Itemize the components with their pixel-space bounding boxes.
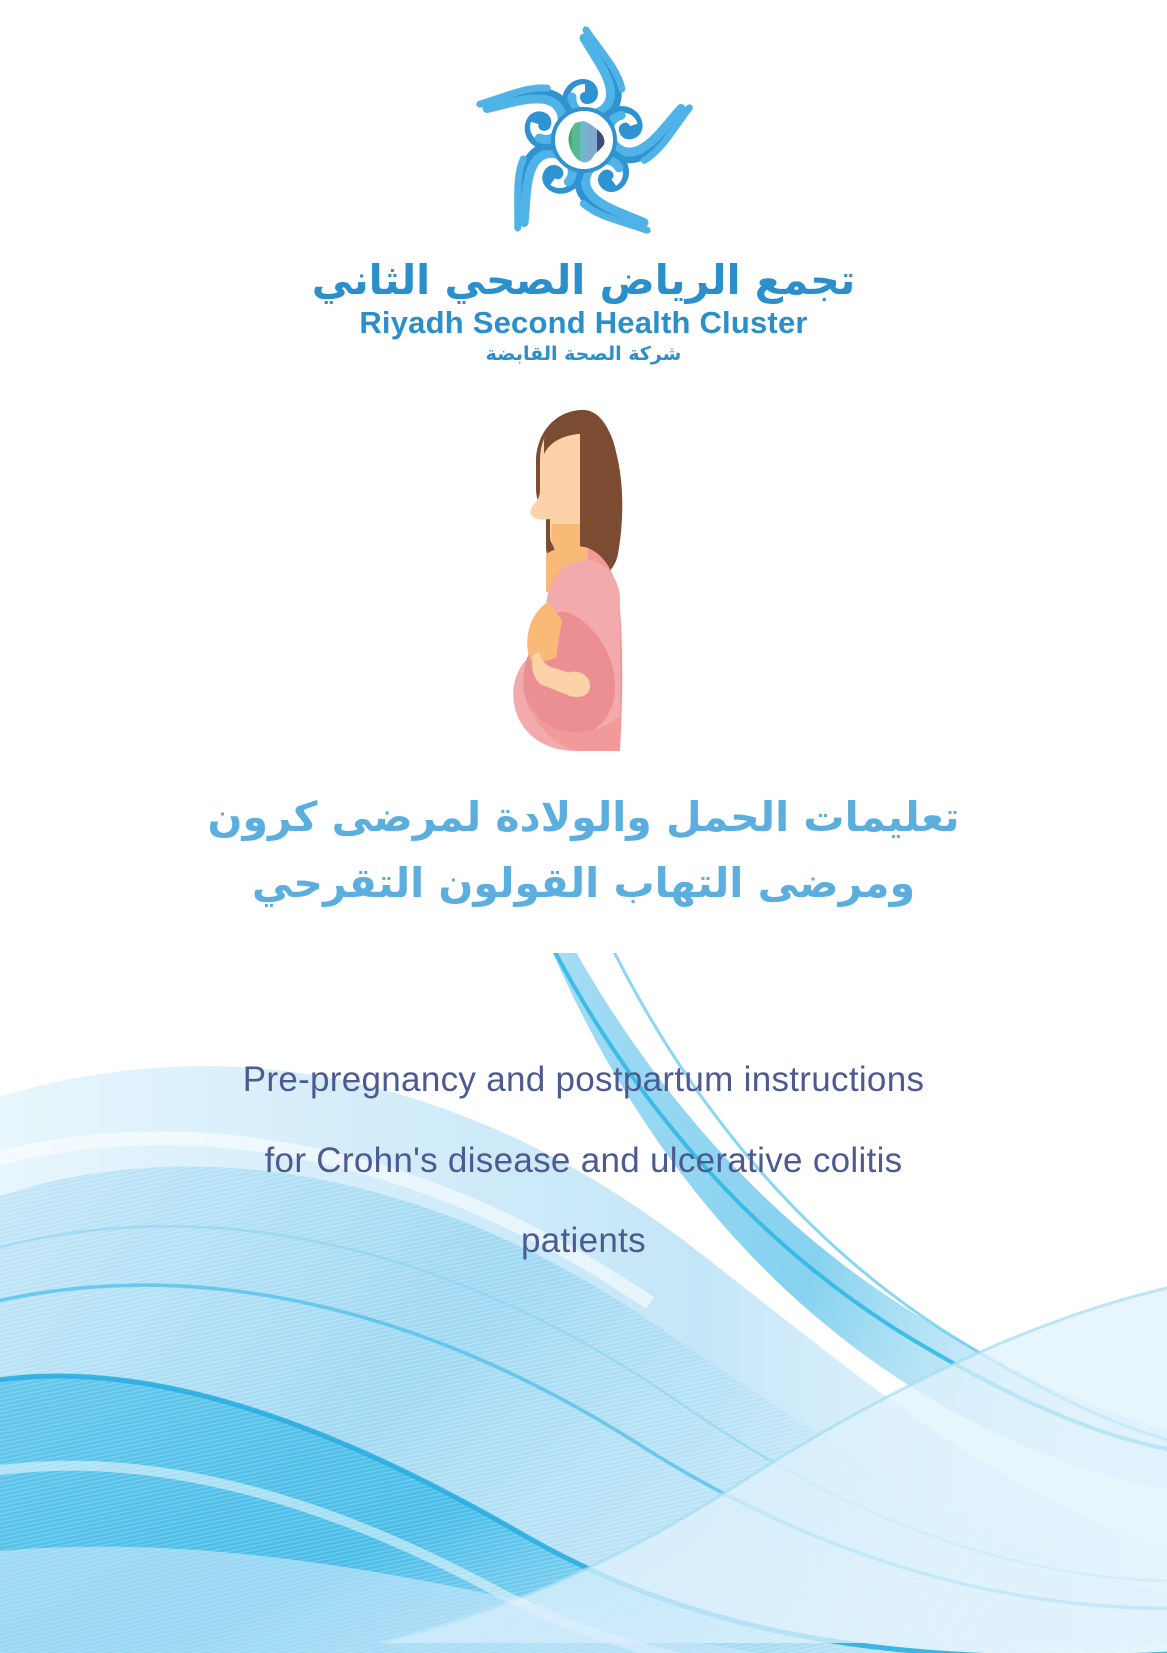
arabic-title-line-2: ومرضى التهاب القولون التقرحي [110,850,1057,916]
logo-english-name: Riyadh Second Health Cluster [0,306,1167,340]
english-title-line-2: for Crohn's disease and ulcerative colit… [110,1121,1057,1202]
logo-arabic-name: تجمع الرياض الصحي الثاني [0,256,1167,304]
organization-logo-block: تجمع الرياض الصحي الثاني Riyadh Second H… [0,18,1167,365]
illustration-container [0,396,1167,751]
english-title: Pre-pregnancy and postpartum instruction… [110,1040,1057,1282]
english-title-line-1: Pre-pregnancy and postpartum instruction… [110,1040,1057,1121]
riyadh-second-health-cluster-star-logo [459,18,709,250]
arabic-title-line-1: تعليمات الحمل والولادة لمرضى كرون [110,784,1057,850]
arabic-title: تعليمات الحمل والولادة لمرضى كرون ومرضى … [110,784,1057,917]
poster-page: تجمع الرياض الصحي الثاني Riyadh Second H… [0,0,1167,1653]
logo-tagline: شركة الصحة القابضة [0,344,1167,365]
english-title-line-3: patients [110,1201,1057,1282]
pregnant-woman-illustration [484,396,684,751]
